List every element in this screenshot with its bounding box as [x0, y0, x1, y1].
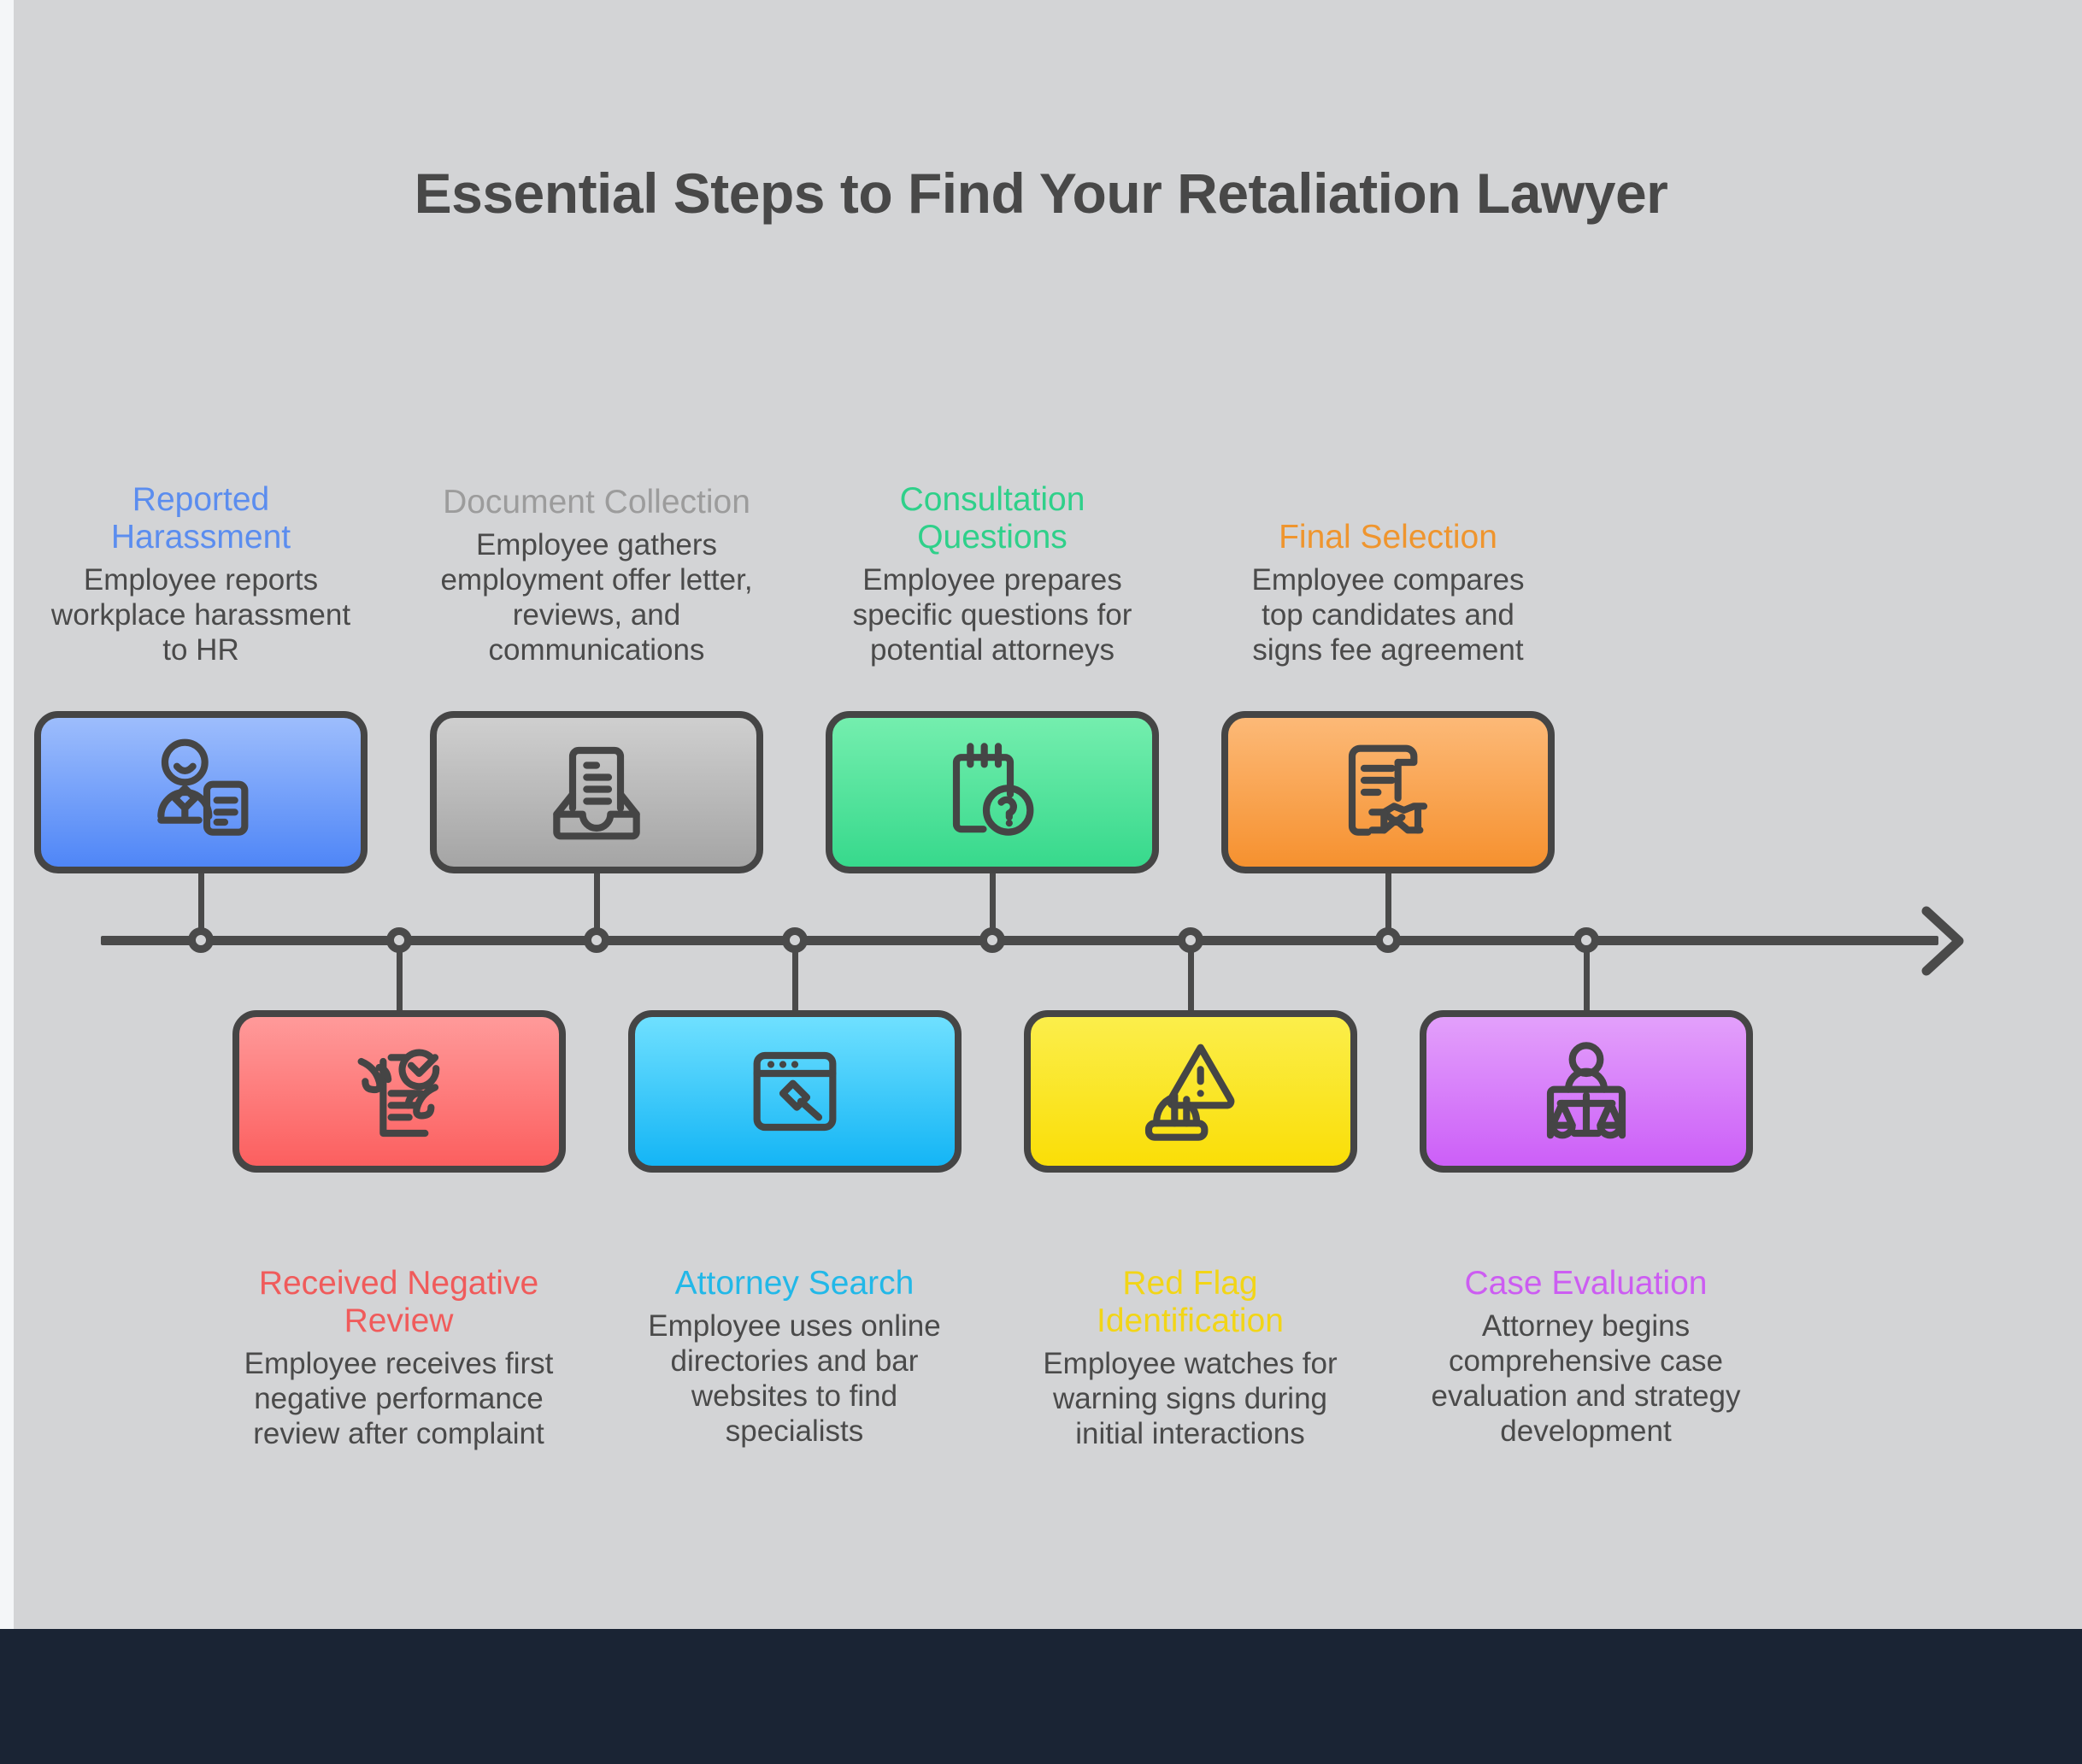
step-description-6: Employee watches for warning signs durin…	[1032, 1347, 1349, 1452]
step-label-4: Attorney Search	[637, 1265, 953, 1302]
infographic-canvas: Essential Steps to Find Your Retaliation…	[0, 0, 2082, 1764]
step-icon-card-2[interactable]	[232, 1010, 566, 1173]
step-label-7: Final Selection	[1230, 519, 1546, 556]
step-label-2: Received Negative Review	[241, 1265, 557, 1340]
step-label-6: Red Flag Identification	[1032, 1265, 1349, 1340]
step-icon-card-5[interactable]	[826, 711, 1159, 873]
step-icon-card-6[interactable]	[1024, 1010, 1357, 1173]
timeline-node-dot[interactable]	[979, 927, 1005, 953]
notepad-question-icon	[932, 732, 1052, 852]
timeline-node-dot[interactable]	[1573, 927, 1599, 953]
step-label-1: Reported Harassment	[43, 481, 359, 556]
footer-bar	[0, 1629, 2082, 1764]
timeline-arrow-icon	[1921, 903, 1973, 979]
person-with-document-icon	[141, 732, 261, 852]
warning-hardhat-icon	[1131, 1032, 1250, 1151]
step-text-block-5: Consultation QuestionsEmployee prepares …	[834, 481, 1150, 668]
step-description-3: Employee gathers employment offer letter…	[438, 528, 755, 668]
step-icon-card-8[interactable]	[1420, 1010, 1753, 1173]
step-label-8: Case Evaluation	[1428, 1265, 1744, 1302]
timeline-axis-line	[101, 936, 1938, 945]
timeline-node-dot[interactable]	[188, 927, 214, 953]
page-title: Essential Steps to Find Your Retaliation…	[0, 161, 2082, 226]
timeline-node-dot[interactable]	[1178, 927, 1203, 953]
step-label-3: Document Collection	[438, 484, 755, 521]
timeline-node-dot[interactable]	[1375, 927, 1401, 953]
step-text-block-7: Final SelectionEmployee compares top can…	[1230, 519, 1546, 668]
step-description-2: Employee receives first negative perform…	[241, 1347, 557, 1452]
contract-handshake-icon	[1328, 732, 1448, 852]
browser-gavel-search-icon	[735, 1032, 855, 1151]
timeline-node-dot[interactable]	[386, 927, 412, 953]
step-text-block-6: Red Flag IdentificationEmployee watches …	[1032, 1265, 1349, 1452]
step-description-8: Attorney begins comprehensive case evalu…	[1428, 1309, 1744, 1449]
timeline-node-dot[interactable]	[584, 927, 609, 953]
step-icon-card-3[interactable]	[430, 711, 763, 873]
judge-scales-icon	[1526, 1032, 1646, 1151]
step-description-5: Employee prepares specific questions for…	[834, 563, 1150, 668]
step-description-7: Employee compares top candidates and sig…	[1230, 563, 1546, 668]
step-description-1: Employee reports workplace harassment to…	[43, 563, 359, 668]
step-text-block-8: Case EvaluationAttorney begins comprehen…	[1428, 1265, 1744, 1449]
timeline-node-dot[interactable]	[782, 927, 808, 953]
step-icon-card-7[interactable]	[1221, 711, 1555, 873]
review-check-hands-icon	[339, 1032, 459, 1151]
step-icon-card-1[interactable]	[34, 711, 368, 873]
step-label-5: Consultation Questions	[834, 481, 1150, 556]
step-icon-card-4[interactable]	[628, 1010, 962, 1173]
step-text-block-2: Received Negative ReviewEmployee receive…	[241, 1265, 557, 1452]
step-text-block-4: Attorney SearchEmployee uses online dire…	[637, 1265, 953, 1449]
step-text-block-1: Reported HarassmentEmployee reports work…	[43, 481, 359, 668]
step-description-4: Employee uses online directories and bar…	[637, 1309, 953, 1449]
step-text-block-3: Document CollectionEmployee gathers empl…	[438, 484, 755, 668]
document-tray-icon	[537, 732, 656, 852]
